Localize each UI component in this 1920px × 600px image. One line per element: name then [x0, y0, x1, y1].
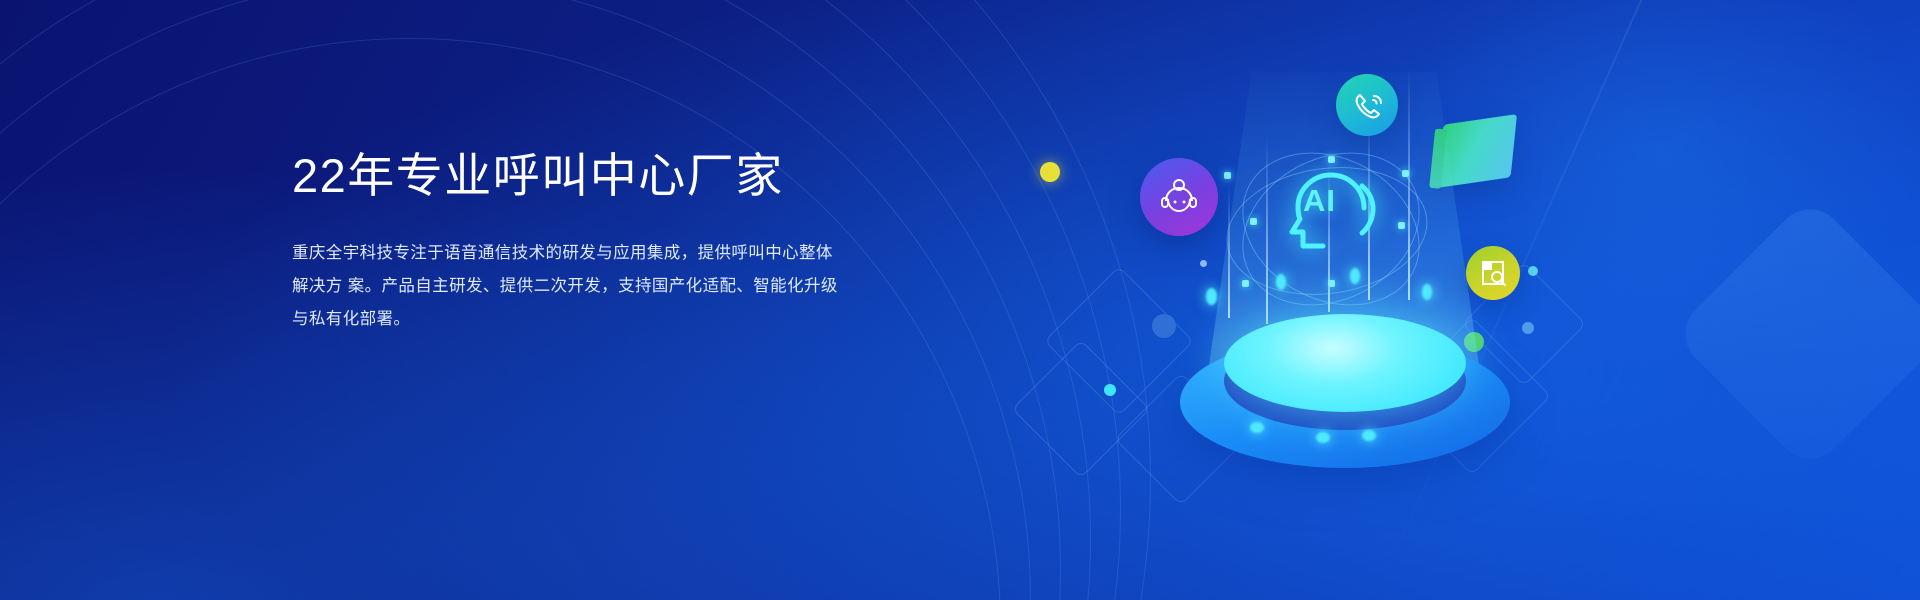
glow-blob	[1206, 288, 1217, 305]
page-title: 22年专业呼叫中心厂家	[292, 148, 932, 203]
accent-dot-small-blue	[1522, 322, 1534, 334]
hero-banner: 22年专业呼叫中心厂家 重庆全宇科技专注于语音通信技术的研发与应用集成，提供呼叫…	[0, 0, 1920, 600]
orbit-node	[1250, 218, 1257, 225]
orbit-node	[1242, 280, 1249, 287]
glow-blob	[1422, 284, 1432, 300]
soft-diamond-decoration	[1671, 195, 1920, 472]
orbit-node	[1398, 222, 1405, 229]
glow-blob	[1250, 422, 1264, 433]
phone-call-icon	[1336, 74, 1398, 136]
glow-blob	[1362, 430, 1376, 441]
orbit-node	[1402, 170, 1409, 177]
banner-description-line-2: 案。产品自主研发、提供二次开发，支持国产化适配、智能化升级与私有化部署。	[292, 277, 838, 328]
accent-dot-small-white	[1200, 260, 1207, 267]
orbit-node	[1328, 280, 1335, 287]
ai-platform-illustration: AI	[1060, 40, 1600, 560]
accent-dot-small-cyan	[1528, 266, 1538, 276]
customer-service-agent-icon	[1140, 158, 1218, 236]
glow-blob	[1276, 274, 1286, 290]
platform-inner-disc	[1224, 314, 1466, 412]
accent-dot-cyan	[1104, 384, 1116, 396]
orbit-node	[1224, 172, 1231, 179]
accent-dot-yellow	[1040, 162, 1060, 182]
banner-copy: 22年专业呼叫中心厂家 重庆全宇科技专注于语音通信技术的研发与应用集成，提供呼叫…	[292, 148, 932, 336]
banner-description: 重庆全宇科技专注于语音通信技术的研发与应用集成，提供呼叫中心整体解决方 案。产品…	[292, 237, 840, 336]
document-search-icon	[1466, 246, 1520, 300]
glow-blob	[1316, 432, 1330, 443]
accent-dot-muted	[1152, 314, 1176, 338]
ai-label: AI	[1303, 183, 1336, 219]
glow-blob	[1350, 268, 1360, 284]
